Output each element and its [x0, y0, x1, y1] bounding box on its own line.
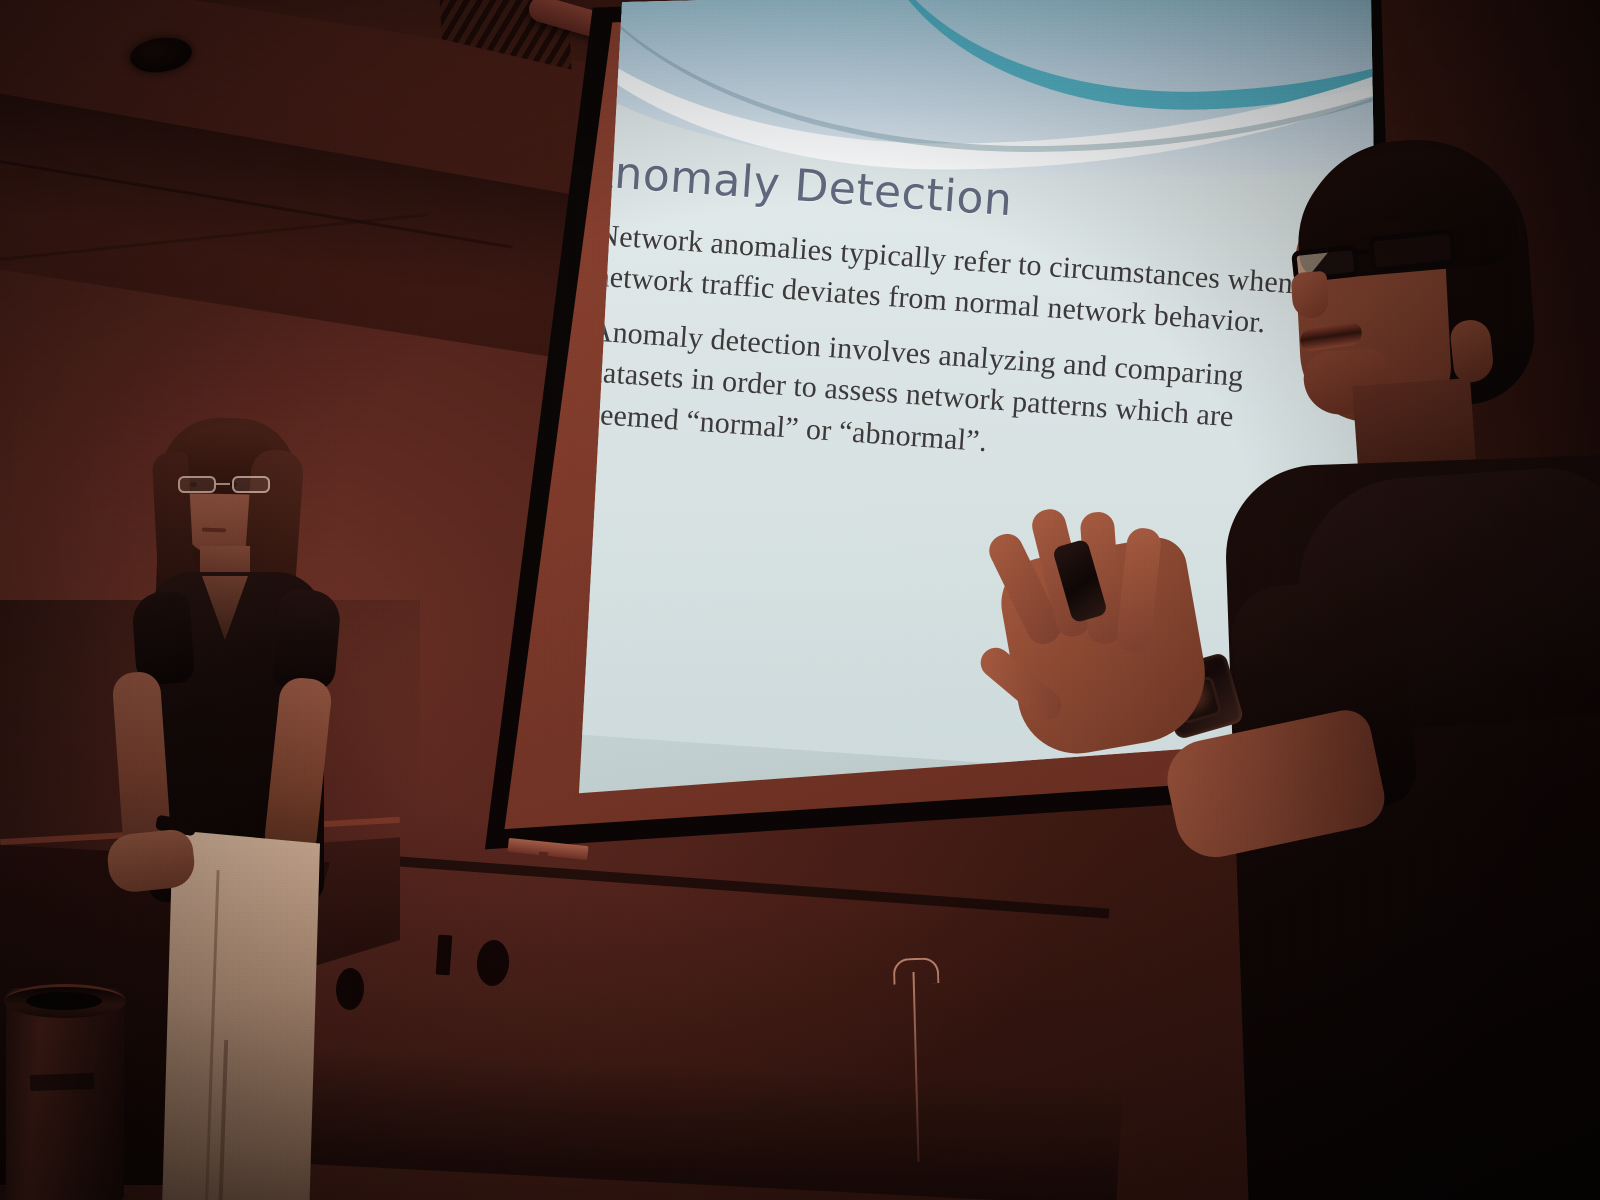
eyeglass-bridge [216, 483, 230, 485]
person-left [60, 400, 380, 1200]
presentation-room-photo: Anomaly Detection Network anomalies typi… [0, 0, 1600, 1200]
screen-pull-cord-handle[interactable] [893, 957, 940, 985]
pants [160, 830, 320, 1200]
eyeglass-lens [1368, 228, 1457, 273]
eyeglass-lens [178, 476, 216, 493]
nose [1290, 271, 1329, 319]
sleeve [272, 587, 342, 692]
wall-outlet-icon [436, 935, 453, 976]
mouth [202, 528, 226, 533]
eyeglasses-icon [178, 476, 270, 494]
eyeglass-lens [232, 476, 270, 493]
person-right [1000, 130, 1600, 1200]
